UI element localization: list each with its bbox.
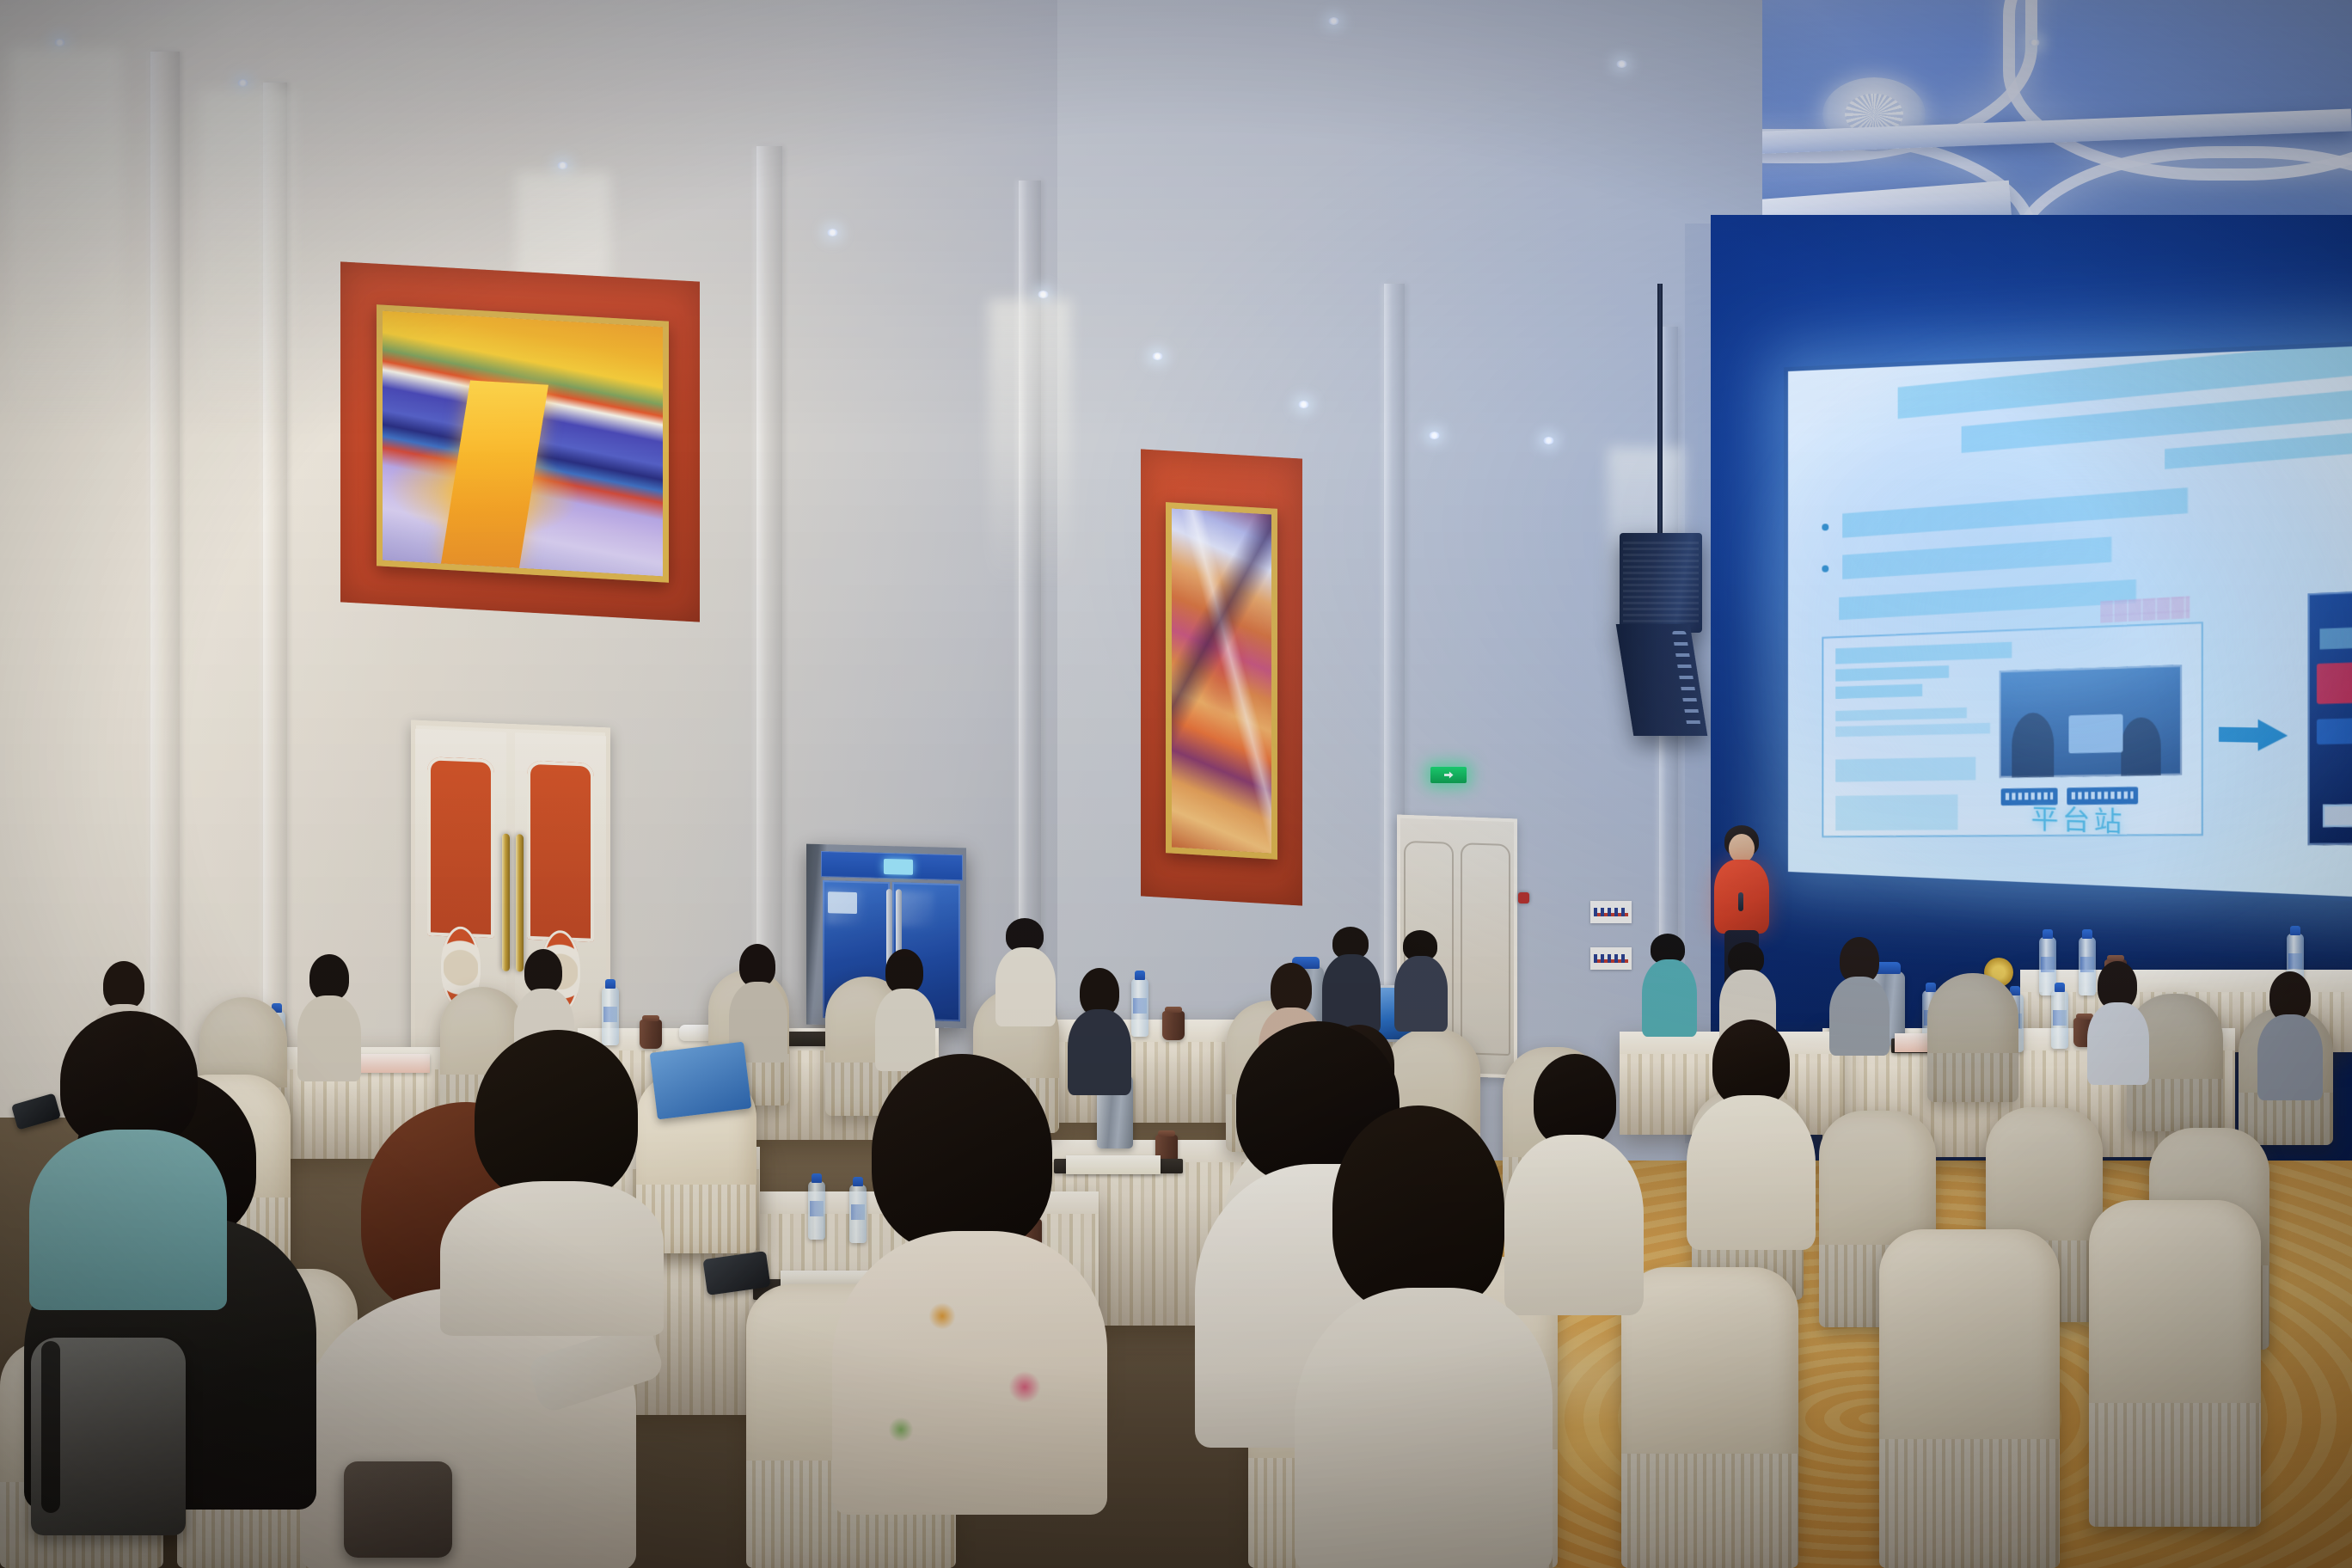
ceiling-downlight — [1429, 432, 1440, 439]
slide-section-mosaic — [1839, 579, 2136, 620]
hair — [60, 1011, 198, 1148]
water-bottle — [2039, 937, 2056, 995]
torso — [1295, 1288, 1553, 1568]
water-bottle — [1131, 978, 1148, 1037]
water-bottle — [2079, 937, 2096, 995]
glass-glare — [897, 891, 934, 928]
wall-pilaster — [263, 83, 287, 1080]
photo-figure — [2012, 713, 2054, 778]
ceiling-downlight — [1298, 401, 1309, 408]
hair — [1332, 1106, 1504, 1312]
fridge-display — [884, 859, 913, 875]
flow-arrow-icon — [2219, 719, 2288, 751]
speaker-mount-pole — [1657, 284, 1663, 542]
tablet[interactable] — [650, 1042, 752, 1120]
wall-notice-plate-lower — [1590, 947, 1632, 970]
notice-plate-graphic — [1594, 908, 1627, 917]
hair — [1712, 1020, 1790, 1107]
backpack-strap — [41, 1341, 60, 1513]
app-banner-secondary — [2317, 716, 2352, 744]
card-body-mosaic — [1835, 707, 1967, 721]
torso — [1642, 959, 1697, 1037]
painting-canvas — [383, 311, 663, 577]
handheld-microphone — [1738, 892, 1743, 911]
banquet-chair — [1927, 973, 2018, 1102]
hair — [1534, 1054, 1616, 1147]
hair — [309, 954, 349, 1001]
torso — [297, 995, 361, 1081]
ceiling-downlight — [2029, 39, 2040, 46]
torso — [995, 947, 1056, 1026]
torso — [1068, 1009, 1131, 1095]
card-stats-mosaic — [1835, 756, 1975, 781]
slide: 平台站 — [1788, 345, 2352, 899]
fridge-header-panel — [821, 851, 964, 880]
card-tag-mosaic — [1835, 684, 1922, 699]
handbag — [344, 1461, 452, 1558]
torso — [875, 989, 935, 1071]
door-handle[interactable] — [516, 834, 524, 971]
slide-caption: 平台站 — [1788, 789, 2352, 849]
torso — [2257, 1014, 2323, 1100]
fridge-label — [828, 891, 857, 914]
card-body-mosaic — [1835, 723, 1990, 737]
ceramic-teacup — [1162, 1011, 1185, 1040]
water-bottle — [808, 1181, 825, 1240]
notepad — [1066, 1155, 1161, 1174]
torso — [1829, 977, 1890, 1056]
hair — [103, 961, 144, 1009]
torso — [29, 1130, 227, 1310]
abstract-vertical-painting — [1166, 502, 1277, 860]
banquet-chair — [1621, 1267, 1798, 1568]
fire-alarm-button[interactable] — [1518, 892, 1529, 903]
projection-screen: 平台站 — [1788, 345, 2352, 899]
torso — [1504, 1135, 1644, 1315]
torso — [1394, 956, 1448, 1032]
abstract-landscape-painting — [377, 304, 669, 583]
water-bottle — [2051, 990, 2068, 1049]
photo-figure — [2121, 717, 2160, 776]
slide-bullet-mosaic — [1842, 487, 2188, 538]
water-bottle — [602, 987, 619, 1045]
slide-bullet-dot — [1822, 524, 1828, 530]
torso — [1687, 1095, 1816, 1250]
hair — [885, 949, 923, 994]
painting-canvas — [1172, 509, 1271, 854]
ceiling-downlight — [1152, 352, 1163, 360]
running-man-exit-icon — [1444, 770, 1454, 780]
door-handle[interactable] — [502, 834, 510, 971]
ceiling-downlight — [557, 162, 568, 169]
slide-line-mosaic — [2165, 430, 2352, 469]
slide-highlight-mosaic — [2100, 596, 2190, 622]
notice-plate-graphic — [1594, 954, 1627, 964]
app-banner — [2317, 659, 2352, 704]
hair — [524, 949, 562, 994]
card-photo — [2000, 665, 2183, 777]
card-heading-mosaic — [1835, 642, 2012, 665]
torso — [2087, 1002, 2149, 1085]
water-bottle — [849, 1185, 867, 1243]
hair — [1271, 963, 1312, 1014]
exit-sign — [1430, 767, 1467, 783]
hair — [739, 944, 775, 987]
conference-hall-photo: 平台站 — [0, 0, 2352, 1568]
line-array-pa-speaker — [1620, 533, 1702, 633]
slide-bullet-dot — [1822, 566, 1828, 573]
presenter-head — [1729, 834, 1755, 863]
torso — [1322, 954, 1381, 1033]
ceiling-downlight — [1616, 60, 1627, 68]
torso — [440, 1181, 664, 1336]
torso — [832, 1231, 1107, 1515]
wall-pilaster — [756, 146, 782, 1057]
ceiling-downlight — [1328, 17, 1339, 25]
ceiling-downlight — [1543, 437, 1554, 444]
hair — [475, 1030, 638, 1202]
banquet-chair — [1879, 1229, 2060, 1568]
ceiling-downlight — [1038, 291, 1049, 298]
ceiling-downlight — [827, 229, 838, 236]
app-text-mosaic — [2319, 627, 2352, 649]
ceiling-downlight — [237, 79, 248, 87]
banquet-chair — [2089, 1200, 2261, 1527]
card-meta-mosaic — [1835, 665, 1949, 682]
wall-notice-plate-upper — [1590, 901, 1632, 923]
ceiling-downlight — [54, 39, 65, 46]
hair — [872, 1054, 1052, 1252]
wall-pilaster — [150, 52, 180, 1066]
photo-monitor — [2068, 714, 2122, 754]
slide-bullet-mosaic — [1842, 536, 2111, 579]
ceramic-teacup — [640, 1020, 662, 1049]
